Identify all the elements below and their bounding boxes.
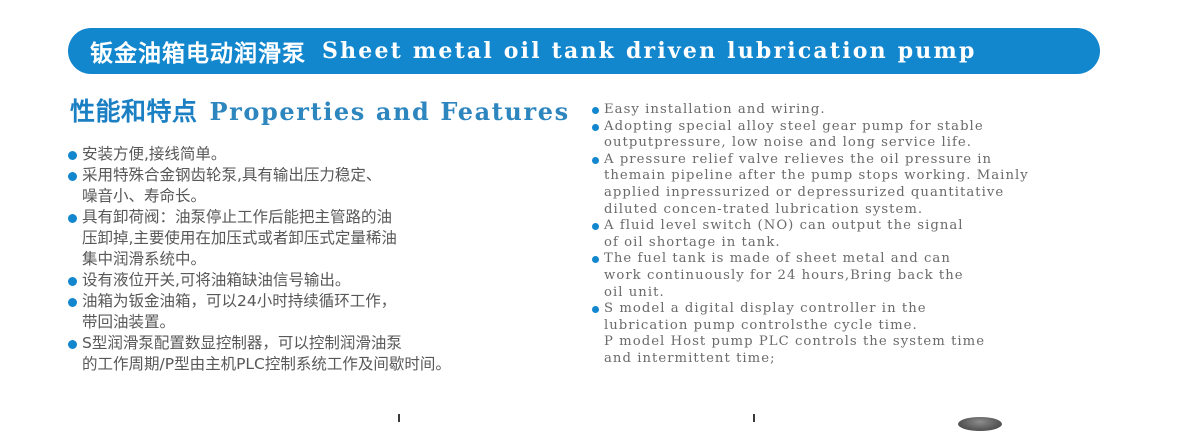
list-item-text: S model a digital display controller in … (604, 301, 985, 367)
product-photo-top-edge-mark-right (753, 414, 755, 422)
bullet-dot-icon (68, 277, 77, 286)
list-item: 采用特殊合金钢齿轮泵,具有输出压力稳定、 噪音小、寿命长。 (68, 165, 573, 207)
list-item-text: 安装方便,接线简单。 (82, 144, 226, 165)
bullet-dot-icon (68, 340, 77, 349)
bullet-dot-icon (68, 172, 77, 181)
list-item-text: 采用特殊合金钢齿轮泵,具有输出压力稳定、 噪音小、寿命长。 (82, 165, 381, 207)
list-item-text: Easy installation and wiring. (604, 102, 826, 119)
features-list-chinese: 安装方便,接线简单。 采用特殊合金钢齿轮泵,具有输出压力稳定、 噪音小、寿命长。… (68, 144, 573, 375)
bullet-dot-icon (592, 124, 599, 131)
bullet-dot-icon (592, 306, 599, 313)
features-columns: 安装方便,接线简单。 采用特殊合金钢齿轮泵,具有输出压力稳定、 噪音小、寿命长。… (0, 0, 1186, 427)
features-list-english: Easy installation and wiring. Adopting s… (592, 102, 1092, 368)
list-item-text: The fuel tank is made of sheet metal and… (604, 251, 964, 301)
list-item-text: 具有卸荷阀：油泵停止工作后能把主管路的油 压卸掉,主要使用在加压式或者卸压式定量… (82, 207, 397, 270)
list-item-text: Adopting special alloy steel gear pump f… (604, 119, 984, 152)
list-item-text: 设有液位开关,可将油箱缺油信号输出。 (82, 270, 350, 291)
list-item: S model a digital display controller in … (592, 301, 1092, 367)
list-item-text: S型润滑泵配置数显控制器，可以控制润滑油泵 的工作周期/P型由主机PLC控制系统… (82, 333, 451, 375)
list-item: Easy installation and wiring. (592, 102, 1092, 119)
list-item-text: A fluid level switch (NO) can output the… (604, 218, 964, 251)
product-photo-top-edge-mark-left (398, 414, 400, 422)
list-item: A pressure relief valve relieves the oil… (592, 152, 1092, 218)
list-item: 设有液位开关,可将油箱缺油信号输出。 (68, 270, 573, 291)
bullet-dot-icon (68, 151, 77, 160)
list-item: 油箱为钣金油箱，可以24小时持续循环工作， 带回油装置。 (68, 291, 573, 333)
bullet-dot-icon (592, 223, 599, 230)
list-item: The fuel tank is made of sheet metal and… (592, 251, 1092, 301)
product-photo-cap-top (958, 417, 1002, 431)
list-item-text: A pressure relief valve relieves the oil… (604, 152, 1029, 218)
list-item: Adopting special alloy steel gear pump f… (592, 119, 1092, 152)
bullet-dot-icon (68, 298, 77, 307)
list-item: 安装方便,接线简单。 (68, 144, 573, 165)
bullet-dot-icon (592, 107, 599, 114)
bullet-dot-icon (68, 214, 77, 223)
list-item: S型润滑泵配置数显控制器，可以控制润滑油泵 的工作周期/P型由主机PLC控制系统… (68, 333, 573, 375)
list-item: 具有卸荷阀：油泵停止工作后能把主管路的油 压卸掉,主要使用在加压式或者卸压式定量… (68, 207, 573, 270)
bullet-dot-icon (592, 256, 599, 263)
list-item-text: 油箱为钣金油箱，可以24小时持续循环工作， 带回油装置。 (82, 291, 396, 333)
bullet-dot-icon (592, 157, 599, 164)
list-item: A fluid level switch (NO) can output the… (592, 218, 1092, 251)
